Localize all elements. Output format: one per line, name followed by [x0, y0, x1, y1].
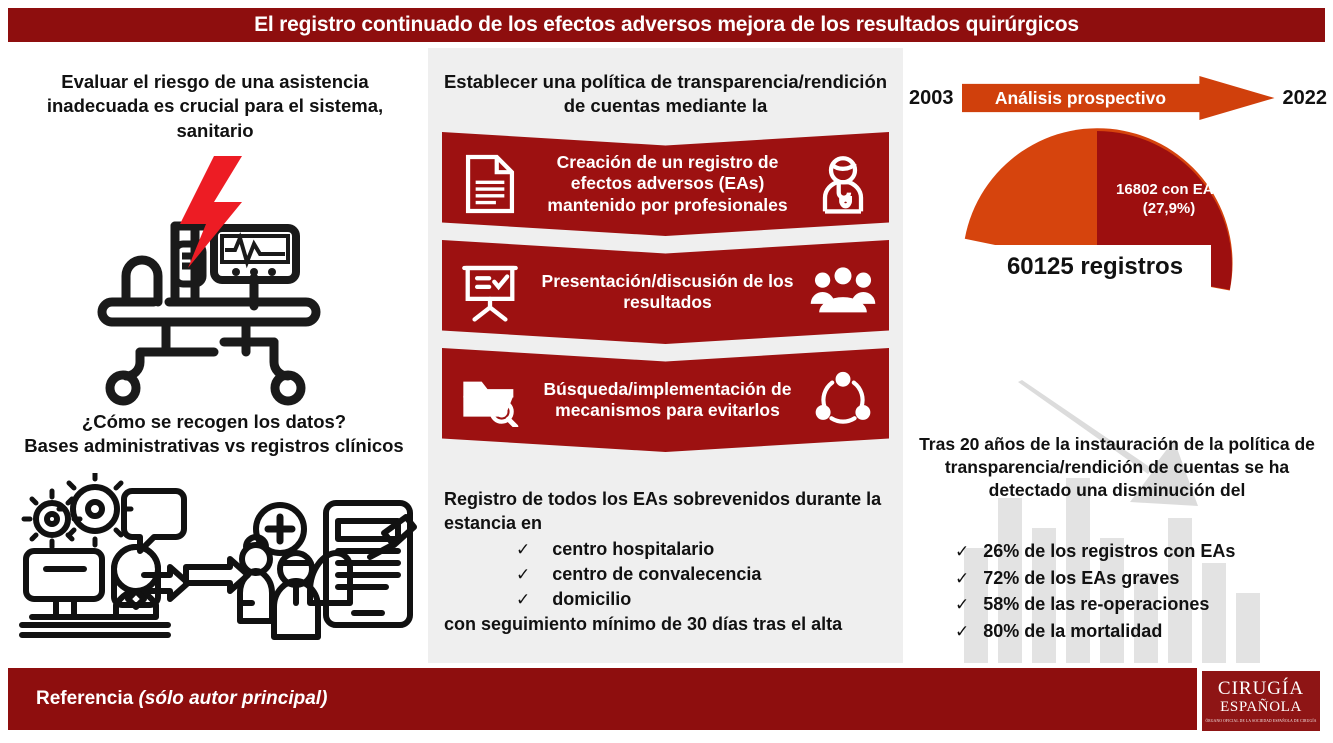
policy-banner-3-label: Búsqueda/implementación de mecanismos pa… [538, 379, 797, 422]
journal-logo: CIRUGÍA ESPAÑOLA ÓRGANO OFICIAL DE LA SO… [1197, 666, 1325, 736]
middle-footer-list: ✓ centro hospitalario ✓ centro de conval… [444, 537, 896, 613]
middle-heading: Establecer una política de transparencia… [440, 70, 891, 119]
list-item: ✓ domicilio [516, 587, 896, 612]
pie-slice-label-con-eas-line2: (27,9%) [1099, 200, 1239, 219]
reference-label-text: Referencia [36, 688, 138, 709]
check-icon: ✓ [516, 588, 530, 612]
pie-slice-label-con-eas: 16802 con EAs (27,9%) [1099, 181, 1239, 219]
left-heading-2-line1: ¿Cómo se recogen los datos? [8, 410, 420, 434]
middle-footer-lead: Registro de todos los EAs sobrevenidos d… [444, 488, 896, 536]
check-icon: ✓ [955, 567, 969, 592]
check-icon: ✓ [955, 593, 969, 618]
timeline-start-year: 2003 [909, 87, 954, 110]
reference-note: (sólo autor principal) [138, 688, 327, 709]
reference-label: Referencia (sólo autor principal) [36, 688, 327, 710]
policy-banner-3[interactable]: Búsqueda/implementación de mecanismos pa… [442, 348, 889, 452]
pie-slice-label-con-eas-line1: 16802 con EAs [1099, 181, 1239, 200]
timeline-end-year: 2022 [1283, 87, 1328, 110]
pie-slice-label-sin-eas: 43323 sin EAs (72.1%) [965, 322, 1145, 360]
left-heading-2-line2: Bases administrativas vs registros clíni… [8, 434, 420, 458]
list-item-label: 58% de las re-operaciones [983, 591, 1209, 617]
list-item: ✓ 72% de los EAs graves [955, 565, 1325, 592]
list-item-label: 72% de los EAs graves [983, 565, 1179, 591]
left-column: Evaluar el riesgo de una asistencia inad… [0, 48, 428, 663]
middle-footer-tail: con seguimiento mínimo de 30 días tras e… [444, 613, 896, 637]
pie-slice-label-sin-eas-line2: (72.1%) [965, 341, 1145, 360]
data-collection-icon [18, 473, 418, 648]
left-heading-2: ¿Cómo se recogen los datos? Bases admini… [8, 410, 420, 459]
footer-bar: Referencia (sólo autor principal) [8, 668, 1325, 730]
network-nodes-icon [797, 371, 889, 429]
right-column: 2003 Análisis prospectivo 2022 16802 con… [903, 48, 1333, 663]
middle-column: Establecer una política de transparencia… [428, 48, 903, 663]
title-bar: El registro continuado de los efectos ad… [8, 8, 1325, 42]
timeline: 2003 Análisis prospectivo 2022 [909, 70, 1327, 126]
list-item-label: centro hospitalario [552, 537, 714, 562]
policy-banner-1[interactable]: Creación de un registro de efectos adver… [442, 132, 889, 236]
check-icon: ✓ [955, 620, 969, 645]
pie-center-label: 60125 registros [979, 245, 1211, 289]
policy-banner-2-label: Presentación/discusión de los resultados [538, 271, 797, 314]
infographic-canvas: El registro continuado de los efectos ad… [0, 0, 1333, 743]
audience-group-icon [797, 266, 889, 318]
timeline-label: Análisis prospectivo [962, 76, 1200, 120]
list-item-label: centro de convalecencia [552, 562, 761, 587]
list-item: ✓ 58% de las re-operaciones [955, 591, 1325, 618]
policy-banner-list: Creación de un registro de efectos adver… [442, 132, 889, 456]
list-item: ✓ 80% de la mortalidad [955, 618, 1325, 645]
journal-logo-line2: ESPAÑOLA [1220, 699, 1302, 716]
records-pie-chart: 16802 con EAs (27,9%) 43323 sin EAs (72.… [957, 126, 1247, 416]
list-item: ✓ 26% de los registros con EAs [955, 538, 1325, 565]
list-item: ✓ centro de convalecencia [516, 562, 896, 587]
left-heading: Evaluar el riesgo de una asistencia inad… [22, 70, 408, 143]
middle-footer-text: Registro de todos los EAs sobrevenidos d… [444, 488, 896, 637]
check-icon: ✓ [955, 540, 969, 565]
right-footer-text: Tras 20 años de la instauración de la po… [907, 433, 1327, 502]
list-item-label: domicilio [552, 587, 631, 612]
folder-search-icon [442, 373, 538, 427]
doctor-icon [797, 153, 889, 215]
pie-slice-label-sin-eas-line1: 43323 sin EAs [965, 322, 1145, 341]
journal-logo-line1: CIRUGÍA [1218, 679, 1304, 698]
presentation-board-icon [442, 261, 538, 323]
list-item: ✓ centro hospitalario [516, 537, 896, 562]
journal-logo-inner: CIRUGÍA ESPAÑOLA ÓRGANO OFICIAL DE LA SO… [1202, 671, 1320, 731]
policy-banner-1-label: Creación de un registro de efectos adver… [538, 152, 797, 216]
timeline-arrow-icon: Análisis prospectivo [962, 76, 1275, 120]
list-item-label: 26% de los registros con EAs [983, 538, 1235, 564]
page-title: El registro continuado de los efectos ad… [254, 13, 1079, 37]
journal-logo-line3: ÓRGANO OFICIAL DE LA SOCIEDAD ESPAÑOLA D… [1205, 719, 1316, 723]
policy-banner-2[interactable]: Presentación/discusión de los resultados [442, 240, 889, 344]
check-icon: ✓ [516, 563, 530, 587]
decrease-list: ✓ 26% de los registros con EAs ✓ 72% de … [955, 538, 1325, 645]
check-icon: ✓ [516, 538, 530, 562]
document-icon [442, 153, 538, 215]
list-item-label: 80% de la mortalidad [983, 618, 1162, 644]
hospital-gurney-icon [96, 156, 336, 406]
